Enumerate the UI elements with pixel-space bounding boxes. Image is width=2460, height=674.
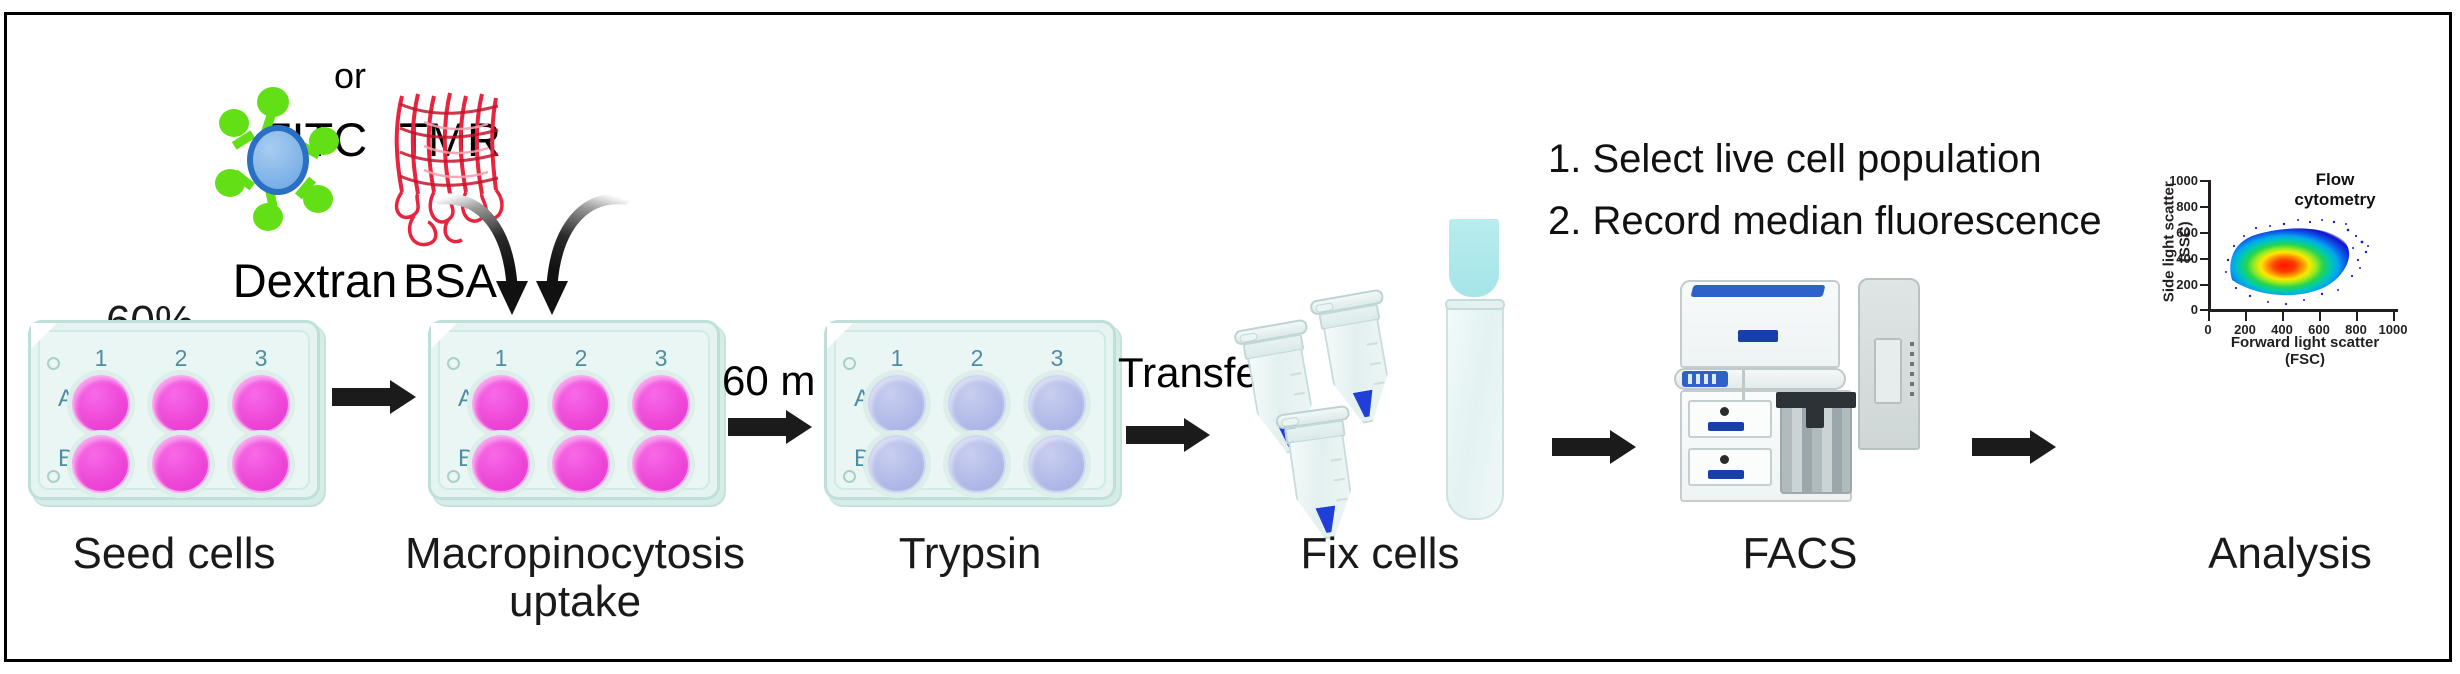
plate-notch-top-uptake	[447, 357, 460, 370]
caption-seed-cells: Seed cells	[28, 530, 320, 578]
protocol-list: 1. Select live cell population 2. Record…	[1548, 128, 2168, 252]
well-b3-uptake[interactable]	[632, 435, 690, 493]
caption-trypsin: Trypsin	[824, 530, 1116, 578]
y-tick-600	[2200, 232, 2209, 234]
workflow-figure: FITC Dextran or TMR BSA	[0, 0, 2460, 674]
well-b2-seed[interactable]	[152, 435, 210, 493]
well-a1-trypsin[interactable]	[868, 375, 926, 433]
well-b2-trypsin[interactable]	[948, 435, 1006, 493]
y-tick-200	[2200, 284, 2209, 286]
well-a3-seed[interactable]	[232, 375, 290, 433]
facs-right-panel	[1858, 278, 1920, 450]
x-tick-400	[2282, 312, 2284, 321]
x-tick-1000	[2393, 312, 2395, 321]
facs-drawer-top[interactable]	[1688, 400, 1772, 438]
density-scatter-cloud	[2210, 180, 2398, 310]
plate-col-1-seed: 1	[81, 345, 121, 372]
facs-vent-icon	[1682, 371, 1728, 387]
y-tick-800	[2200, 206, 2209, 208]
protocol-item-2: 2. Record median fluorescence	[1548, 190, 2168, 252]
y-axis-label: Side light scatter (SSC)	[2161, 177, 2193, 307]
facs-instrument[interactable]	[1680, 272, 1920, 512]
well-b1-seed[interactable]	[72, 435, 130, 493]
plate-col-1-uptake: 1	[481, 345, 521, 372]
reagent-addition-arrows	[432, 185, 632, 325]
plate-col-2-uptake: 2	[561, 345, 601, 372]
well-b3-seed[interactable]	[232, 435, 290, 493]
plate-col-3-uptake: 3	[641, 345, 681, 372]
well-b3-trypsin[interactable]	[1028, 435, 1086, 493]
x-tick-200	[2245, 312, 2247, 321]
arrow-fix-to-facs	[1552, 430, 1636, 464]
facs-display	[1738, 330, 1778, 342]
well-a3-uptake[interactable]	[632, 375, 690, 433]
plate-col-3-seed: 3	[241, 345, 281, 372]
well-a1-uptake[interactable]	[472, 375, 530, 433]
x-tick-0	[2208, 312, 2210, 321]
plate-col-1-trypsin: 1	[877, 345, 917, 372]
plate-uptake[interactable]: 1 2 3 A B	[428, 320, 720, 500]
well-b1-uptake[interactable]	[472, 435, 530, 493]
arrow-trypsin-to-fix	[1126, 418, 1210, 452]
plate-notch-top-trypsin	[843, 357, 856, 370]
facs-drawer-bottom[interactable]	[1688, 448, 1772, 486]
arrow-uptake-to-trypsin	[728, 410, 812, 444]
plate-trypsin[interactable]: 1 2 3 A B	[824, 320, 1116, 500]
well-a2-uptake[interactable]	[552, 375, 610, 433]
facs-hood-accent	[1691, 285, 1826, 297]
well-b1-trypsin[interactable]	[868, 435, 926, 493]
well-a3-trypsin[interactable]	[1028, 375, 1086, 433]
plate-seed-cells[interactable]: 1 2 3 A B	[28, 320, 320, 500]
protocol-item-1: 1. Select live cell population	[1548, 128, 2168, 190]
well-b2-uptake[interactable]	[552, 435, 610, 493]
plate-col-2-trypsin: 2	[957, 345, 997, 372]
facs-sample-clamp	[1776, 392, 1856, 408]
caption-analysis: Analysis	[2150, 530, 2430, 578]
well-a2-trypsin[interactable]	[948, 375, 1006, 433]
caption-macropinocytosis-uptake: Macropinocytosis uptake	[360, 530, 790, 625]
plate-notch-top-seed	[47, 357, 60, 370]
arrow-facs-to-analysis	[1972, 430, 2056, 464]
y-tick-400	[2200, 258, 2209, 260]
caption-facs: FACS	[1660, 530, 1940, 578]
y-tick-0	[2200, 309, 2209, 311]
x-tick-600	[2319, 312, 2321, 321]
caption-fix-cells: Fix cells	[1230, 530, 1530, 578]
facs-hood	[1680, 280, 1840, 368]
plate-col-3-trypsin: 3	[1037, 345, 1077, 372]
flow-cytometry-plot[interactable]: Flow cytometry 1000 800 600 400 200 0 0 …	[2150, 168, 2430, 348]
x-tick-800	[2356, 312, 2358, 321]
well-a2-seed[interactable]	[152, 375, 210, 433]
plate-col-2-seed: 2	[161, 345, 201, 372]
arrow-seed-to-uptake	[332, 380, 416, 414]
y-tick-1000	[2200, 180, 2209, 182]
label-incubation-time: 60 m	[722, 358, 815, 403]
x-axis-label: Forward light scatter (FSC)	[2210, 334, 2400, 368]
well-a1-seed[interactable]	[72, 375, 130, 433]
